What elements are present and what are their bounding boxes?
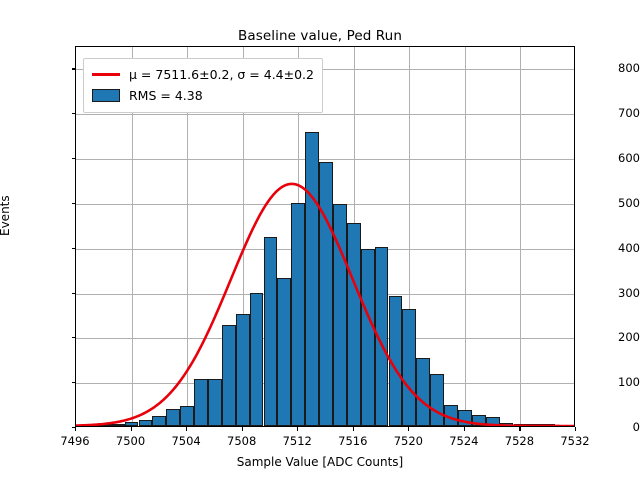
- x-tick-mark: [408, 427, 409, 431]
- histogram-bar: [500, 423, 514, 426]
- x-tick-label: 7532: [560, 434, 589, 448]
- histogram-bar: [347, 223, 361, 426]
- histogram-bar: [361, 249, 375, 426]
- y-tick-mark: [72, 158, 76, 159]
- histogram-bar: [83, 424, 97, 426]
- y-tick-label: 500: [576, 196, 640, 210]
- y-tick-label: 700: [576, 106, 640, 120]
- y-tick-mark: [72, 203, 76, 204]
- histogram-bar: [416, 358, 430, 426]
- y-tick-label: 200: [576, 330, 640, 344]
- histogram-bar: [208, 379, 222, 426]
- patch-swatch-icon: [92, 89, 120, 102]
- histogram-bar: [527, 424, 541, 426]
- histogram-bar: [236, 314, 250, 426]
- x-tick-mark: [575, 427, 576, 431]
- x-tick-label: 7496: [60, 434, 89, 448]
- x-tick-label: 7528: [505, 434, 534, 448]
- y-tick-label: 800: [576, 61, 640, 75]
- x-tick-label: 7524: [449, 434, 478, 448]
- y-tick-mark: [72, 293, 76, 294]
- histogram-figure: Baseline value, Ped Run 0100200300400500…: [0, 0, 640, 480]
- histogram-bar: [430, 374, 444, 426]
- histogram-bar: [514, 424, 528, 426]
- histogram-bar: [291, 203, 305, 426]
- y-axis-label: Events: [0, 195, 12, 236]
- legend-label-rms: RMS = 4.38: [129, 88, 203, 103]
- histogram-bar: [389, 296, 403, 426]
- histogram-bar: [402, 309, 416, 426]
- y-tick-label: 400: [576, 241, 640, 255]
- x-tick-label: 7508: [227, 434, 256, 448]
- y-tick-label: 600: [576, 151, 640, 165]
- histogram-bar: [458, 410, 472, 426]
- histogram-bar: [139, 420, 153, 426]
- y-tick-mark: [72, 248, 76, 249]
- legend-label-fit: μ = 7511.6±0.2, σ = 4.4±0.2: [129, 67, 314, 82]
- x-tick-mark: [464, 427, 465, 431]
- histogram-bar: [222, 325, 236, 426]
- x-tick-mark: [242, 427, 243, 431]
- histogram-bar: [319, 162, 333, 426]
- x-tick-mark: [519, 427, 520, 431]
- legend-item-rms: RMS = 4.38: [92, 85, 314, 106]
- y-tick-mark: [72, 113, 76, 114]
- histogram-bar: [111, 424, 125, 426]
- y-tick-mark: [72, 68, 76, 69]
- x-axis-label: Sample Value [ADC Counts]: [0, 455, 640, 469]
- histogram-bar: [250, 293, 264, 426]
- histogram-bar: [541, 424, 555, 426]
- x-tick-label: 7504: [171, 434, 200, 448]
- x-tick-mark: [297, 427, 298, 431]
- histogram-bar: [152, 416, 166, 426]
- histogram-bar: [194, 379, 208, 426]
- histogram-bar: [375, 247, 389, 426]
- legend-item-fit: μ = 7511.6±0.2, σ = 4.4±0.2: [92, 64, 314, 85]
- line-swatch-icon: [92, 73, 120, 76]
- y-tick-label: 300: [576, 286, 640, 300]
- histogram-bar: [333, 204, 347, 426]
- y-tick-mark: [72, 337, 76, 338]
- y-tick-label: 100: [576, 375, 640, 389]
- x-tick-label: 7512: [283, 434, 312, 448]
- x-tick-label: 7500: [116, 434, 145, 448]
- histogram-bar: [125, 422, 139, 426]
- histogram-bar: [277, 278, 291, 426]
- y-tick-label: 0: [576, 420, 640, 434]
- histogram-bar: [472, 415, 486, 426]
- histogram-bar: [264, 237, 278, 426]
- x-tick-mark: [75, 427, 76, 431]
- x-tick-mark: [131, 427, 132, 431]
- histogram-bar: [97, 424, 111, 426]
- histogram-bar: [486, 417, 500, 426]
- legend: μ = 7511.6±0.2, σ = 4.4±0.2 RMS = 4.38: [83, 58, 323, 113]
- histogram-bar: [305, 132, 319, 426]
- histogram-bar: [166, 409, 180, 426]
- x-tick-label: 7520: [394, 434, 423, 448]
- x-tick-mark: [186, 427, 187, 431]
- histogram-bar: [444, 405, 458, 427]
- histogram-bar: [180, 406, 194, 426]
- chart-title: Baseline value, Ped Run: [0, 28, 640, 44]
- x-tick-label: 7516: [338, 434, 367, 448]
- x-tick-mark: [353, 427, 354, 431]
- y-tick-mark: [72, 382, 76, 383]
